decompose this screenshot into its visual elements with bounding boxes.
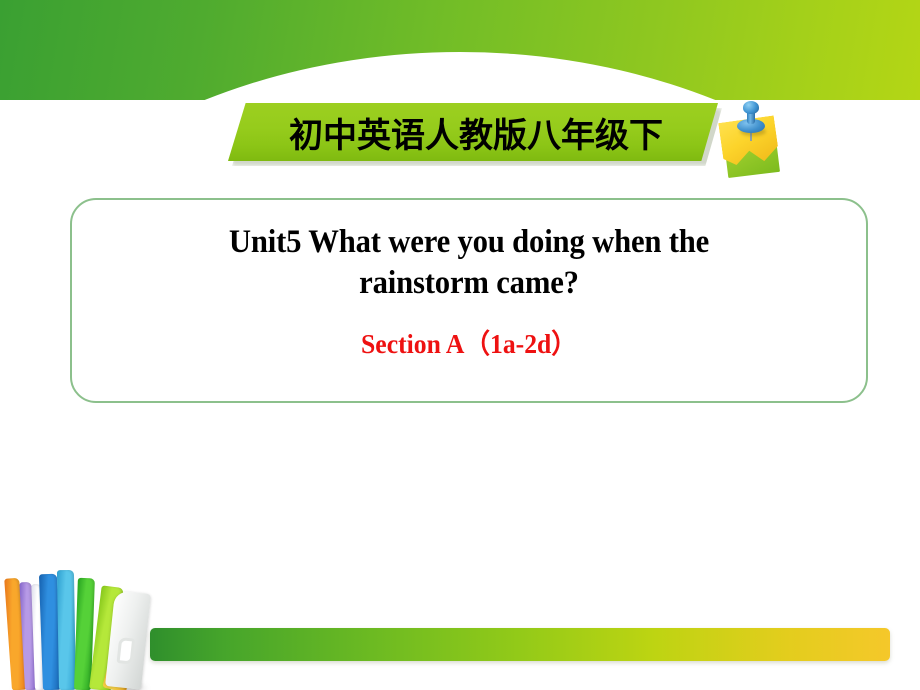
lesson-title-line-2: rainstorm came?	[359, 265, 579, 301]
bookend-hole	[117, 637, 136, 665]
lesson-title-line-1: Unit5 What were you doing when the	[229, 224, 709, 260]
sticky-note-group	[716, 99, 792, 179]
books-illustration	[6, 540, 166, 690]
footer-gradient-bar	[150, 628, 890, 661]
book-cyan	[57, 570, 76, 690]
header-curve-shape	[0, 52, 920, 100]
title-content-box: Unit5 What were you doing when the rains…	[70, 198, 868, 403]
header-green-band	[0, 0, 920, 100]
lesson-subtitle: Section A（1a-2d）	[115, 328, 824, 360]
banner-label: 初中英语人教版八年级下	[228, 103, 718, 161]
course-banner: 初中英语人教版八年级下	[228, 103, 718, 165]
presentation-slide: 初中英语人教版八年级下 Unit5 What were you doing wh…	[0, 0, 920, 690]
lesson-title: Unit5 What were you doing when the rains…	[122, 222, 816, 304]
pushpin-head-icon	[743, 101, 759, 114]
